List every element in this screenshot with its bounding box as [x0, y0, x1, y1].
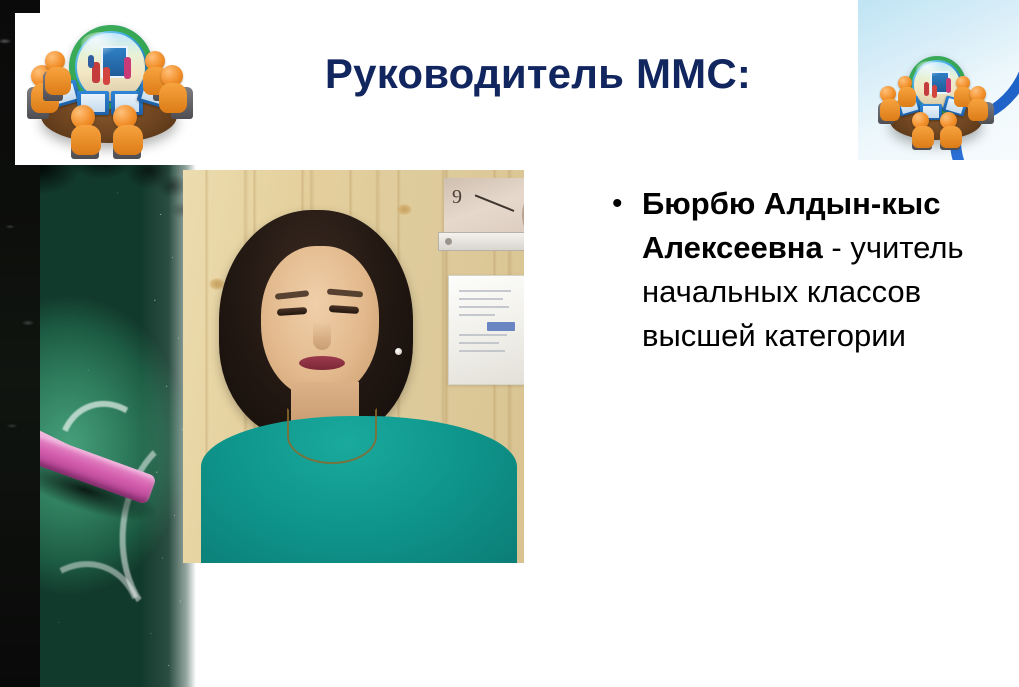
clock-hand — [475, 194, 515, 212]
clock-ledge — [438, 232, 524, 251]
nose — [313, 322, 331, 350]
person-figure — [161, 65, 191, 121]
wood-knot — [397, 204, 412, 215]
person-figure — [45, 51, 73, 103]
mouth — [299, 356, 345, 370]
eye — [277, 307, 307, 316]
person-figure — [940, 112, 964, 152]
eyebrow — [327, 288, 363, 297]
eyebrow — [275, 290, 309, 300]
logo-right — [858, 0, 1019, 160]
bullet-marker: • — [608, 182, 642, 226]
clock-numeral: 9 — [452, 186, 462, 209]
wall-document — [448, 275, 524, 385]
page-title: Руководитель ММС: — [228, 50, 848, 98]
ledge-screw — [445, 238, 452, 245]
person-figure — [912, 112, 936, 152]
list-item: • Бюрбю Алдын-кыс Алексеевна - учитель н… — [608, 182, 1000, 358]
bullet-list: • Бюрбю Алдын-кыс Алексеевна - учитель н… — [608, 182, 1000, 358]
portrait-face — [261, 246, 379, 398]
meeting-table-globe-icon — [19, 17, 197, 163]
earring — [395, 348, 402, 355]
person-figure — [71, 105, 103, 159]
logo-left — [15, 13, 201, 165]
person-figure — [970, 86, 992, 126]
meeting-table-globe-icon — [876, 52, 994, 152]
globe-gloss — [81, 32, 120, 57]
person-figure — [113, 105, 145, 159]
eye — [329, 305, 359, 314]
globe-gloss — [916, 61, 943, 78]
bullet-content: Бюрбю Алдын-кыс Алексеевна - учитель нач… — [642, 182, 1000, 358]
slide-canvas: Руководитель ММС: 9 — [0, 0, 1019, 687]
portrait-photo: 9 — [183, 170, 524, 563]
person-figure — [898, 76, 918, 114]
necklace — [287, 408, 377, 464]
document-stamp — [487, 322, 515, 331]
